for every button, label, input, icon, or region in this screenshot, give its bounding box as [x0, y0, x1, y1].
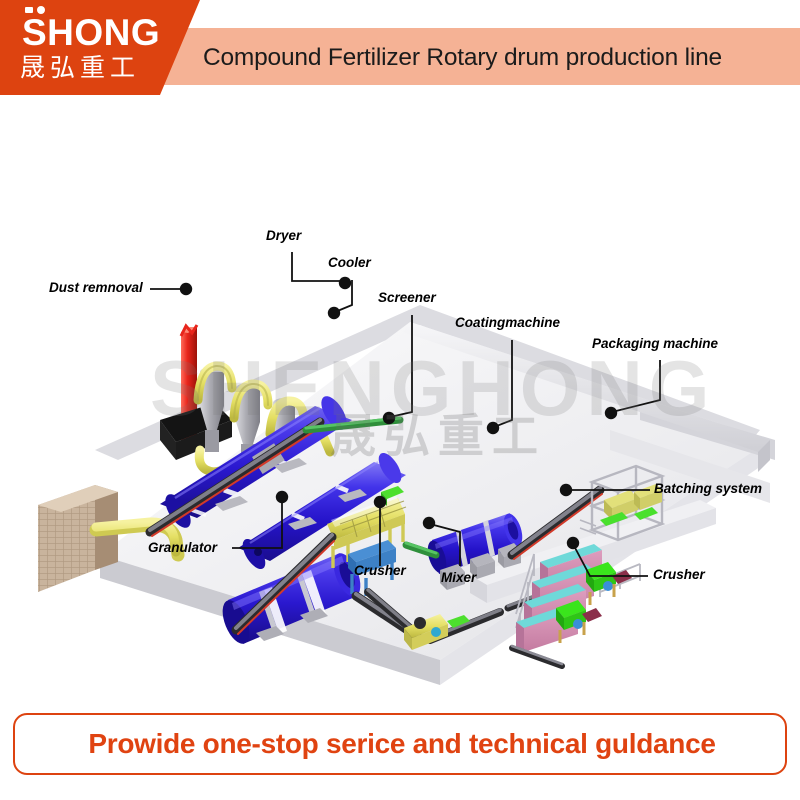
label-crusher-left: Crusher [354, 563, 406, 579]
label-dryer: Dryer [266, 228, 301, 244]
label-granulator: Granulator [148, 540, 217, 556]
logo-dots-icon [25, 6, 51, 15]
footer-banner: Prowide one-stop serice and technical gu… [13, 713, 787, 775]
production-line-svg [0, 100, 800, 700]
label-cooler: Cooler [328, 255, 371, 271]
brand-logo-text: SHONG [22, 11, 160, 55]
batching-system [512, 544, 640, 666]
label-dust-removal: Dust remnoval [49, 280, 143, 296]
page-header: Compound Fertilizer Rotary drum producti… [0, 0, 800, 100]
page-root: Compound Fertilizer Rotary drum producti… [0, 0, 800, 800]
label-packaging-machine: Packaging machine [592, 336, 718, 352]
brand-logo-chinese: 晟弘重工 [20, 53, 185, 83]
label-screener: Screener [378, 290, 436, 306]
label-mixer: Mixer [441, 570, 476, 586]
label-coating-machine: Coatingmachine [455, 315, 560, 331]
label-batching-system: Batching system [654, 481, 762, 497]
label-crusher-right: Crusher [653, 567, 705, 583]
page-title: Compound Fertilizer Rotary drum producti… [203, 38, 795, 78]
footer-text: Prowide one-stop serice and technical gu… [15, 715, 789, 772]
production-line-illustration: SHENGHONG 晟弘重工 Dust remnoval Dryer Coole… [0, 100, 800, 700]
